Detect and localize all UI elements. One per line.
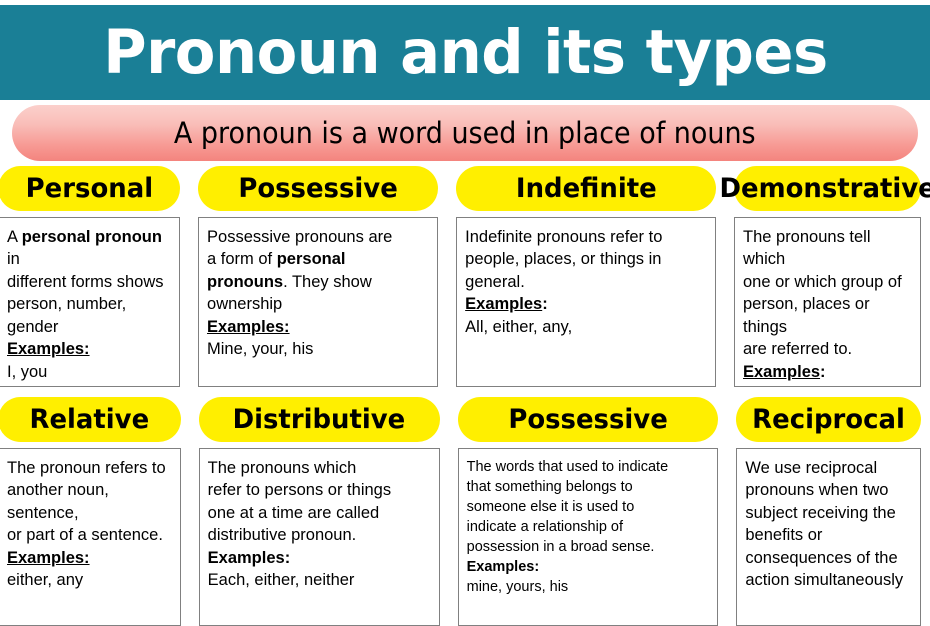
line-4: indicate a relationship of <box>467 519 623 535</box>
examples-label: Examples: <box>7 549 90 567</box>
type-pill-personal[interactable]: Personal <box>0 166 180 211</box>
type-card-possessive: Possessive pronouns are a form of person… <box>198 217 438 387</box>
examples-value: I, you <box>7 363 47 381</box>
card-text: The words that used to indicate that som… <box>467 457 710 597</box>
pronoun-cell-indefinite: Indefinite Indefinite pronouns refer to … <box>447 166 725 387</box>
type-pill-label: Distributive <box>233 406 406 433</box>
pronoun-row-1: Personal A personal pronoun in different… <box>0 166 930 387</box>
examples-colon: : <box>820 363 826 381</box>
pronoun-cell-relative: Relative The pronoun refers to another n… <box>0 397 190 626</box>
page-title: Pronoun and its types <box>103 22 828 83</box>
line-5: possession in a broad sense. <box>467 539 655 555</box>
line-3: someone else it is used to <box>467 499 635 515</box>
type-pill-label: Indefinite <box>516 175 657 202</box>
type-card-demonstrative: The pronouns tell which one or which gro… <box>734 217 921 387</box>
pronoun-cell-possessive-2: Possessive The words that used to indica… <box>449 397 728 626</box>
examples-value: Each, either, neither <box>208 571 355 589</box>
pronoun-cell-reciprocal: Reciprocal We use reciprocal pronouns wh… <box>727 397 930 626</box>
line-2: people, places, or things in <box>465 250 661 268</box>
line-6: action simultaneously <box>745 571 903 589</box>
line-4: distributive pronoun. <box>208 526 357 544</box>
type-pill-indefinite[interactable]: Indefinite <box>456 166 716 211</box>
type-pill-distributive[interactable]: Distributive <box>199 397 440 442</box>
line-1: The pronouns tell which <box>743 228 875 268</box>
line-1: A personal pronoun in different forms sh… <box>7 228 167 336</box>
examples-label: Examples: <box>7 340 90 358</box>
type-pill-label: Personal <box>25 175 152 202</box>
examples-value: All, either, any, <box>465 318 572 336</box>
type-pill-possessive[interactable]: Possessive <box>198 166 438 211</box>
pronoun-types-grid: Personal A personal pronoun in different… <box>0 166 930 626</box>
type-card-relative: The pronoun refers to another noun, sent… <box>0 448 181 626</box>
line-3: person, places or things <box>743 295 874 335</box>
subtitle-banner: A pronoun is a word used in place of nou… <box>12 105 918 161</box>
line-3: subject receiving the <box>745 504 895 522</box>
line-3: general. <box>465 273 525 291</box>
type-pill-demonstrative[interactable]: Demonstrative <box>734 166 921 211</box>
type-pill-label: Possessive <box>238 175 397 202</box>
examples-label: Examples <box>743 363 820 381</box>
pronoun-cell-personal: Personal A personal pronoun in different… <box>0 166 189 387</box>
type-card-reciprocal: We use reciprocal pronouns when two subj… <box>736 448 921 626</box>
examples-label: Examples: <box>208 549 291 567</box>
type-card-indefinite: Indefinite pronouns refer to people, pla… <box>456 217 716 387</box>
pronoun-cell-distributive: Distributive The pronouns which refer to… <box>190 397 449 626</box>
examples-label: Examples: <box>207 318 290 336</box>
line-3: one at a time are called <box>208 504 380 522</box>
line-1: Indefinite pronouns refer to <box>465 228 662 246</box>
type-pill-reciprocal[interactable]: Reciprocal <box>736 397 921 442</box>
card-text: A personal pronoun in different forms sh… <box>7 226 171 383</box>
type-pill-label: Relative <box>29 406 149 433</box>
type-pill-label: Possessive <box>508 406 667 433</box>
type-card-possessive-2: The words that used to indicate that som… <box>458 448 719 626</box>
card-text: The pronouns which refer to persons or t… <box>208 457 431 592</box>
type-pill-possessive-2[interactable]: Possessive <box>458 397 719 442</box>
line-2: another noun, sentence, <box>7 481 113 521</box>
line-2: pronouns when two <box>745 481 888 499</box>
pronoun-cell-possessive-1: Possessive Possessive pronouns are a for… <box>189 166 447 387</box>
page-header-bar: Pronoun and its types <box>0 5 930 100</box>
line-1: We use reciprocal <box>745 459 877 477</box>
type-card-distributive: The pronouns which refer to persons or t… <box>199 448 440 626</box>
pronoun-cell-demonstrative: Demonstrative The pronouns tell which on… <box>725 166 930 387</box>
line-1: The pronoun refers to <box>7 459 166 477</box>
type-pill-label: Demonstrative <box>719 175 930 202</box>
type-card-personal: A personal pronoun in different forms sh… <box>0 217 180 387</box>
line-4: benefits or <box>745 526 822 544</box>
pronoun-row-2: Relative The pronoun refers to another n… <box>0 397 930 626</box>
line-2: one or which group of <box>743 273 902 291</box>
card-text: Possessive pronouns are a form of person… <box>207 226 429 361</box>
line-1: Possessive pronouns are a form of person… <box>207 228 392 313</box>
type-pill-label: Reciprocal <box>752 406 905 433</box>
line-2: refer to persons or things <box>208 481 391 499</box>
card-text: Indefinite pronouns refer to people, pla… <box>465 226 707 338</box>
line-1: The pronouns which <box>208 459 357 477</box>
examples-value: This, that, these <box>743 385 860 387</box>
card-text: We use reciprocal pronouns when two subj… <box>745 457 912 592</box>
line-2: that something belongs to <box>467 479 633 495</box>
line-4: are referred to. <box>743 340 852 358</box>
examples-value: Mine, your, his <box>207 340 313 358</box>
type-pill-relative[interactable]: Relative <box>0 397 181 442</box>
line-5: consequences of the <box>745 549 897 567</box>
examples-label: Examples: <box>467 559 540 575</box>
line-1: The words that used to indicate <box>467 459 669 475</box>
examples-value: either, any <box>7 571 83 589</box>
card-text: The pronouns tell which one or which gro… <box>743 226 912 387</box>
examples-value: mine, yours, his <box>467 579 569 595</box>
card-text: The pronoun refers to another noun, sent… <box>7 457 172 592</box>
subtitle-text: A pronoun is a word used in place of nou… <box>174 119 756 148</box>
examples-label: Examples <box>465 295 542 313</box>
line-3: or part of a sentence. <box>7 526 163 544</box>
examples-colon: : <box>542 295 548 313</box>
